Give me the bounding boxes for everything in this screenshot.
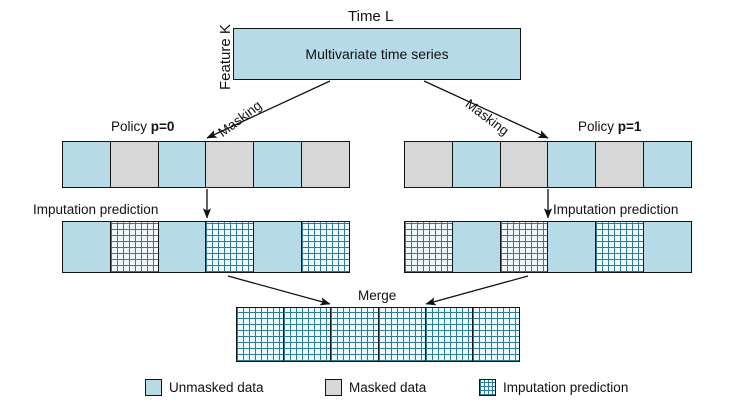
cell-blue [453, 142, 501, 187]
imputation-left-row [62, 221, 350, 273]
cell-blue [63, 222, 111, 272]
merge-label: Merge [358, 289, 396, 303]
cell-hatch [473, 308, 519, 361]
cell-blue [453, 222, 501, 272]
cell-hatch [426, 308, 473, 361]
cell-hatch [596, 222, 644, 272]
cell-blue [159, 222, 207, 272]
imputation-left-label: Imputation prediction [33, 203, 158, 217]
diagram-canvas: Time L Feature K Multivariate time serie… [0, 0, 750, 415]
cell-hatch [331, 308, 378, 361]
policy-left-row [62, 141, 350, 188]
legend-label-masked: Masked data [349, 380, 426, 395]
policy-left-label-value: p=0 [151, 119, 175, 134]
time-axis-label: Time L [348, 9, 393, 24]
cell-blue [644, 142, 691, 187]
arrow-merge-left [228, 276, 330, 304]
legend-swatch-imputation-icon [479, 379, 496, 396]
cell-hatch [379, 308, 426, 361]
policy-right-row [404, 141, 692, 188]
cell-gray [596, 142, 644, 187]
cell-hatch [237, 308, 284, 361]
merge-row [236, 307, 520, 362]
cell-blue [63, 142, 111, 187]
arrow-merge-right [426, 276, 528, 304]
cell-blue [548, 142, 596, 187]
cell-gray [501, 142, 549, 187]
cell-hatch [302, 222, 349, 272]
cell-blue [644, 222, 691, 272]
multivariate-time-series-block: Multivariate time series [233, 28, 521, 80]
masking-label-left: Masking [216, 98, 264, 139]
multivariate-time-series-label: Multivariate time series [305, 46, 448, 62]
policy-left-label-prefix: Policy [111, 119, 151, 134]
cell-hatch [111, 222, 159, 272]
cell-hatch [405, 222, 453, 272]
policy-left-label: Policy p=0 [111, 120, 174, 134]
cell-blue [548, 222, 596, 272]
legend-swatch-unmasked-icon [145, 379, 162, 396]
imputation-right-row [404, 221, 692, 273]
cell-blue [159, 142, 207, 187]
cell-gray [206, 142, 254, 187]
legend-item-unmasked: Unmasked data [145, 379, 264, 396]
legend-label-unmasked: Unmasked data [169, 380, 264, 395]
cell-blue [254, 142, 302, 187]
masking-label-right: Masking [463, 97, 511, 138]
cell-gray [111, 142, 159, 187]
policy-right-label-prefix: Policy [578, 119, 618, 134]
cell-hatch [206, 222, 254, 272]
imputation-right-label: Imputation prediction [553, 203, 678, 217]
cell-blue [254, 222, 302, 272]
cell-gray [405, 142, 453, 187]
cell-gray [302, 142, 349, 187]
cell-hatch [501, 222, 549, 272]
legend-item-masked: Masked data [325, 379, 426, 396]
legend-swatch-masked-icon [325, 379, 342, 396]
cell-hatch [284, 308, 331, 361]
legend-label-imputation: Imputation prediction [503, 380, 628, 395]
policy-right-label: Policy p=1 [578, 120, 641, 134]
policy-right-label-value: p=1 [618, 119, 642, 134]
feature-axis-label: Feature K [218, 24, 233, 90]
legend-item-imputation: Imputation prediction [479, 379, 628, 396]
